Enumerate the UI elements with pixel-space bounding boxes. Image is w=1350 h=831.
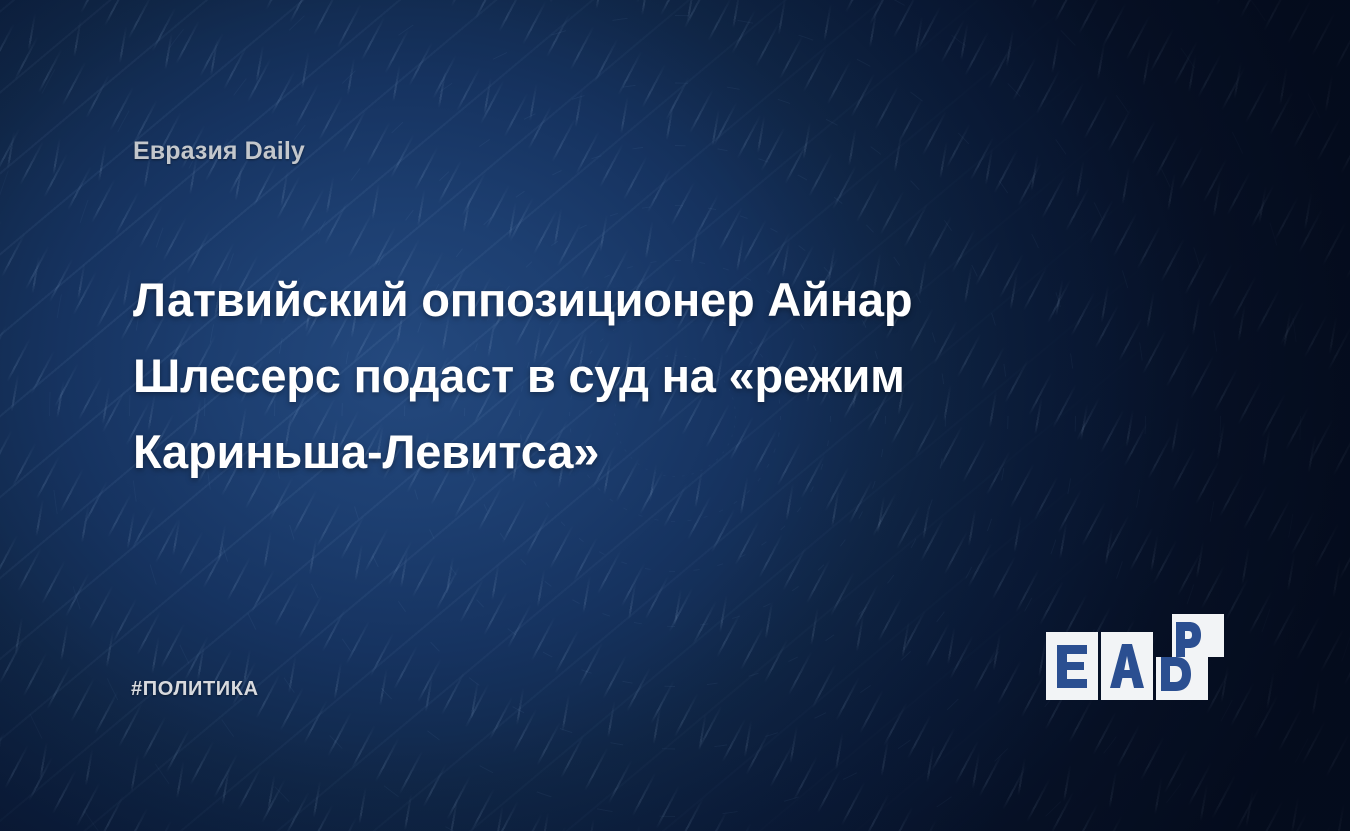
brand-wordmark: Евразия Daily [133, 137, 305, 166]
eadaily-logo [1046, 632, 1228, 700]
page-title: Латвийский оппозиционер Айнар Шлесерс по… [133, 262, 1073, 490]
logo-tile-a [1101, 632, 1153, 700]
news-card: Евразия Daily Латвийский оппозиционер Ай… [0, 0, 1350, 831]
logo-tile-d-top [1172, 614, 1224, 657]
logo-tile-d-split [1156, 614, 1224, 700]
logo-tile-e [1046, 632, 1098, 700]
logo-tile-d-bottom [1156, 657, 1208, 700]
card-content: Евразия Daily Латвийский оппозиционер Ай… [0, 0, 1350, 831]
category-hashtag: #ПОЛИТИКА [131, 678, 259, 701]
